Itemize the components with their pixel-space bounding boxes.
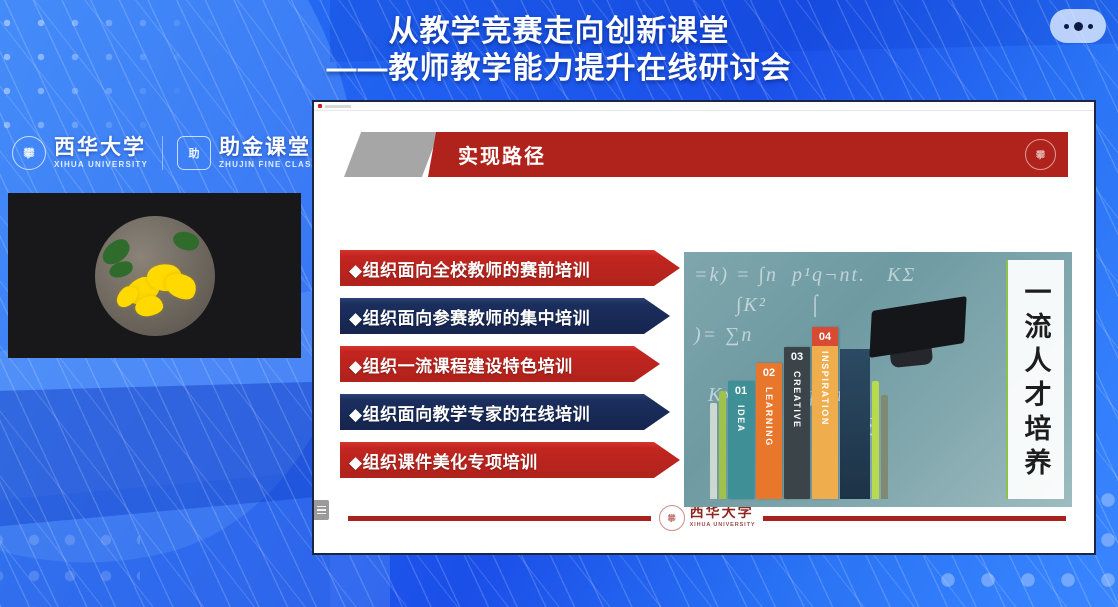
footer-rule-right	[763, 516, 1066, 521]
pencil-2	[719, 391, 726, 499]
book-label: INSPIRATION	[820, 346, 830, 499]
book-number: 03	[784, 347, 810, 366]
participant-avatar	[95, 216, 215, 336]
footer-university-en: XIHUA UNIVERSITY	[690, 523, 756, 529]
book-number: 02	[756, 363, 782, 382]
book-label: IDEA	[736, 400, 746, 499]
path-item-3: ◆组织一流课程建设特色培训	[340, 346, 660, 382]
more-dot-center-icon	[1074, 22, 1083, 31]
path-item-label: ◆组织一流课程建设特色培训	[340, 352, 573, 377]
more-dot-right-icon	[1088, 24, 1093, 29]
footer-rule-left	[348, 516, 651, 521]
pencil-4	[881, 395, 888, 499]
footer-university-logo: 攀 西华大学 XIHUA UNIVERSITY	[659, 505, 756, 531]
panel-toggle-line-3	[317, 513, 326, 515]
pencil-1	[710, 403, 717, 499]
path-item-label: ◆组织课件美化专项培训	[340, 448, 538, 473]
brand-bar: 攀 西华大学 XIHUA UNIVERSITY 助 助金课堂 ZHUJIN FI…	[12, 136, 336, 170]
slide-record-dot-icon	[318, 104, 322, 108]
implementation-path-list: ◆组织面向全校教师的赛前培训 ◆组织面向参赛教师的集中培训 ◆组织一流课程建设特…	[340, 250, 700, 478]
slide-title-banner: 实现路径 攀	[344, 132, 1068, 177]
path-item-label: ◆组织面向参赛教师的集中培训	[340, 304, 590, 329]
footer-university-cn: 西华大学	[690, 507, 756, 521]
book-stack: 01 IDEA 02 LEARNING 03 CREATIVE 04 INSPI…	[710, 327, 888, 499]
background-dot-grid-bottom-left	[0, 522, 140, 607]
slide-title-text: 实现路径	[458, 140, 546, 169]
book-plain-dark	[840, 349, 870, 499]
banner-gray-shape	[344, 132, 439, 177]
webinar-screen: 从教学竞赛走向创新课堂 ——教师教学能力提升在线研讨会 攀 西华大学 XIHUA…	[0, 0, 1118, 607]
university-seal-icon: 攀	[12, 136, 46, 170]
webinar-title-line-2: ——教师教学能力提升在线研讨会	[0, 51, 1118, 86]
banner-seal-icon: 攀	[1025, 139, 1056, 170]
slide-panel-toggle[interactable]	[314, 500, 329, 520]
brand-university: 攀 西华大学 XIHUA UNIVERSITY	[12, 136, 148, 170]
book-label: CREATIVE	[792, 366, 802, 499]
path-item-label: ◆组织面向教学专家的在线培训	[340, 400, 590, 425]
book-item: 01 IDEA	[728, 381, 754, 499]
path-item-label: ◆组织面向全校教师的赛前培训	[340, 256, 590, 281]
webinar-title: 从教学竞赛走向创新课堂 ——教师教学能力提升在线研讨会	[0, 14, 1118, 87]
background-shard-b	[0, 470, 330, 607]
path-item-5: ◆组织课件美化专项培训	[340, 442, 680, 478]
slide-toolbar-placeholder	[325, 105, 351, 108]
webinar-title-line-1: 从教学竞赛走向创新课堂	[0, 14, 1118, 49]
participant-video-tile[interactable]	[8, 193, 301, 358]
platform-seal-icon: 助	[177, 136, 211, 170]
book-item: 02 LEARNING	[756, 363, 782, 499]
book-number: 04	[812, 327, 838, 346]
path-item-4: ◆组织面向教学专家的在线培训	[340, 394, 670, 430]
path-item-2: ◆组织面向参赛教师的集中培训	[340, 298, 670, 334]
panel-toggle-line-2	[317, 509, 326, 511]
university-name-cn: 西华大学	[54, 137, 148, 158]
avatar-leaf-2	[170, 227, 201, 254]
more-options-button[interactable]	[1050, 9, 1106, 43]
book-item: 03 CREATIVE	[784, 347, 810, 499]
illustration-caption-text: 一流人才培养	[1017, 278, 1056, 482]
banner-red-shape: 实现路径 攀	[428, 132, 1068, 177]
book-number: 01	[728, 381, 754, 400]
book-label: LEARNING	[764, 382, 774, 499]
panel-toggle-line-1	[317, 506, 326, 508]
pencil-3	[872, 381, 879, 499]
more-dot-left-icon	[1064, 24, 1069, 29]
slide-footer: 攀 西华大学 XIHUA UNIVERSITY	[348, 505, 1066, 531]
book-item: 04 INSPIRATION	[812, 327, 838, 499]
university-name-en: XIHUA UNIVERSITY	[54, 161, 148, 169]
slide-app-toolbar	[314, 102, 1094, 111]
slide-illustration: =k) = ∫n p¹q¬nt. KΣ ∫K² ⌠ )= ∑n |)=∫ Kx …	[684, 252, 1072, 507]
path-item-1: ◆组织面向全校教师的赛前培训	[340, 250, 680, 286]
brand-divider	[162, 136, 163, 170]
shared-slide: 实现路径 攀 =k) = ∫n p¹q¬nt. KΣ ∫K² ⌠ )= ∑n |…	[312, 100, 1096, 555]
illustration-caption-panel: 一流人才培养	[1006, 260, 1064, 499]
footer-seal-icon: 攀	[659, 505, 685, 531]
